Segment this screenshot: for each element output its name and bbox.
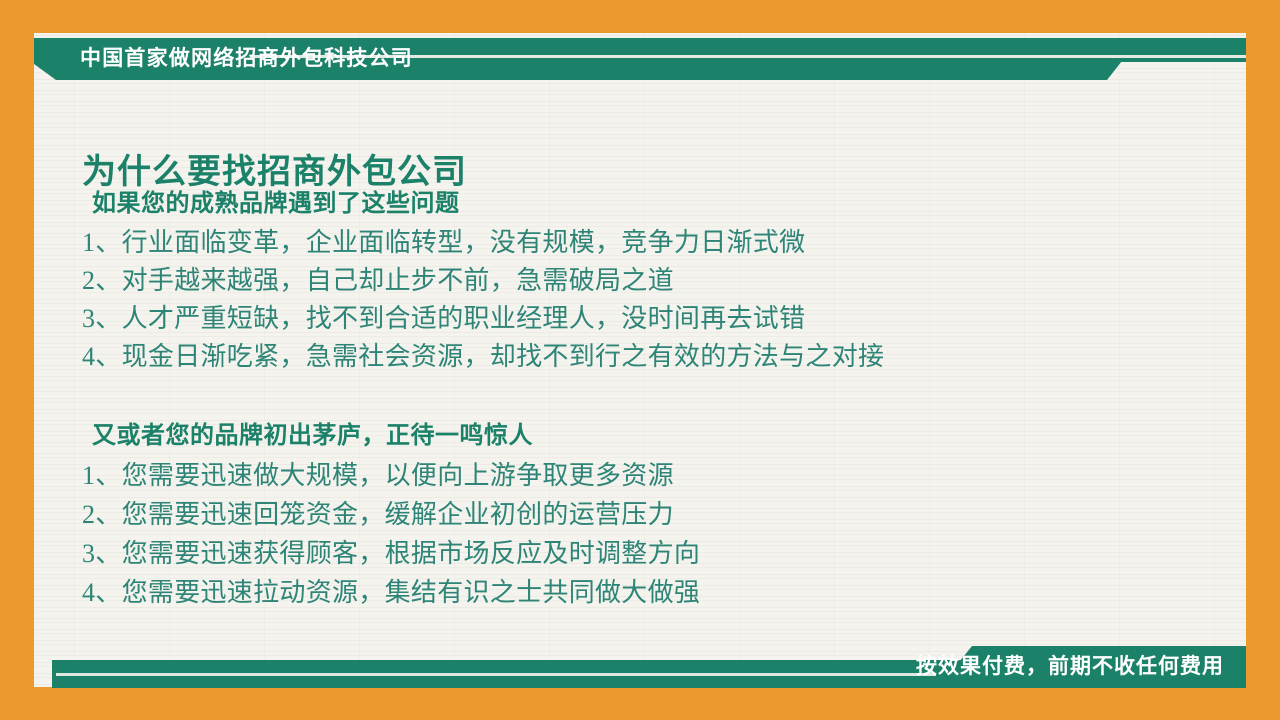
section-mature-brand: 如果您的成熟品牌遇到了这些问题 1、行业面临变革，企业面临转型，没有规模，竞争力… <box>82 183 1222 376</box>
section-heading: 又或者您的品牌初出茅庐，正待一鸣惊人 <box>92 415 1222 450</box>
header-tagline: 中国首家做网络招商外包科技公司 <box>80 42 413 76</box>
list-item: 4、现金日渐吃紧，急需社会资源，却找不到行之有效的方法与之对接 <box>82 338 1222 376</box>
main-content: 为什么要找招商外包公司 如果您的成熟品牌遇到了这些问题 1、行业面临变革，企业面… <box>34 95 1246 640</box>
list-item: 1、您需要迅速做大规模，以便向上游争取更多资源 <box>82 456 1222 495</box>
slide-root: 中国首家做网络招商外包科技公司 为什么要找招商外包公司 如果您的成熟品牌遇到了这… <box>0 0 1280 720</box>
list-item: 2、对手越来越强，自己却止步不前，急需破局之道 <box>82 262 1222 300</box>
section-new-brand: 又或者您的品牌初出茅庐，正待一鸣惊人 1、您需要迅速做大规模，以便向上游争取更多… <box>82 415 1222 612</box>
list-item: 1、行业面临变革，企业面临转型，没有规模，竞争力日渐式微 <box>82 224 1222 262</box>
problem-list: 1、行业面临变革，企业面临转型，没有规模，竞争力日渐式微 2、对手越来越强，自己… <box>82 224 1222 376</box>
list-item: 2、您需要迅速回笼资金，缓解企业初创的运营压力 <box>82 495 1222 534</box>
list-item: 3、您需要迅速获得顾客，根据市场反应及时调整方向 <box>82 534 1222 573</box>
section-heading: 如果您的成熟品牌遇到了这些问题 <box>92 183 1222 218</box>
footer-slogan: 按效果付费，前期不收任何费用 <box>916 652 1224 682</box>
list-item: 4、您需要迅速拉动资源，集结有识之士共同做大做强 <box>82 573 1222 612</box>
list-item: 3、人才严重短缺，找不到合适的职业经理人，没时间再去试错 <box>82 300 1222 338</box>
need-list: 1、您需要迅速做大规模，以便向上游争取更多资源 2、您需要迅速回笼资金，缓解企业… <box>82 456 1222 612</box>
